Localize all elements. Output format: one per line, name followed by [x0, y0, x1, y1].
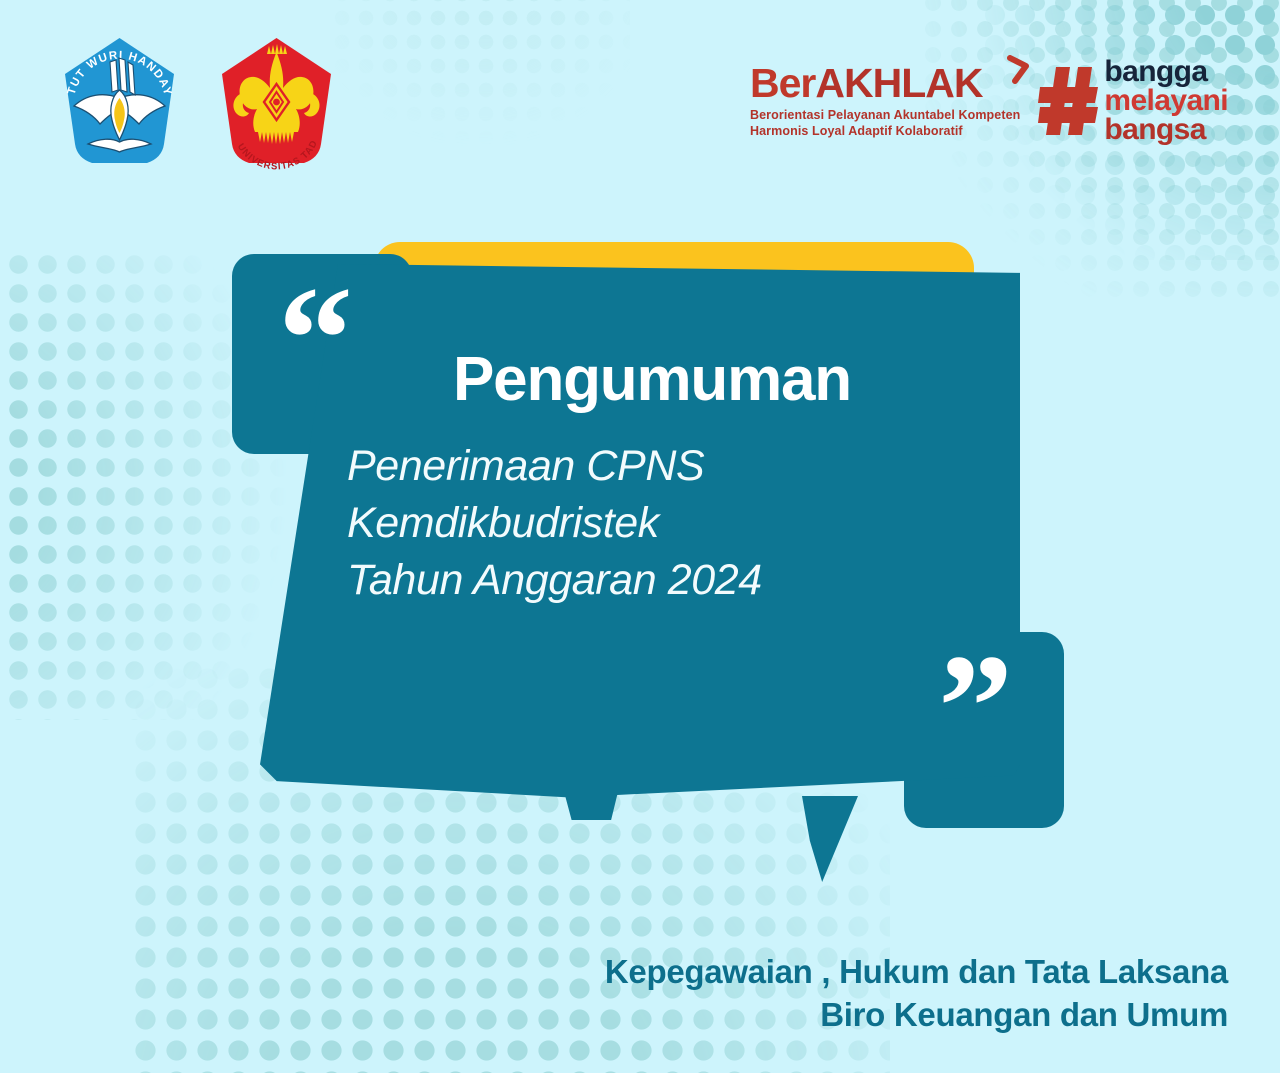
universitas-tadulako-logo: UNIVERSITAS TADULAKO	[209, 32, 344, 177]
berakhlak-wordmark: BerAKHLAK	[750, 63, 1020, 104]
chevron-arrow-icon	[1006, 55, 1032, 85]
berakhlak-tagline: Berorientasi Pelayanan Akuntabel Kompete…	[750, 108, 1020, 139]
halftone-pattern-top-left	[330, 0, 630, 150]
announcement-subtitle-line1: Penerimaan CPNS	[347, 438, 957, 495]
open-quote-mark: “	[278, 264, 353, 414]
berakhlak-suffix: AKHLAK	[815, 60, 982, 106]
announcement-subtitle-line2: Kemdikbudristek	[347, 495, 957, 552]
header-logo-row: TUT WURI HANDAYANI	[52, 32, 344, 177]
announcement-subtitle-line3: Tahun Anggaran 2024	[347, 552, 957, 609]
close-quote-mark: ”	[938, 632, 1013, 782]
berakhlak-logo: BerAKHLAK Berorientasi Pelayanan Akuntab…	[750, 63, 1026, 139]
berakhlak-tagline-line1: Berorientasi Pelayanan Akuntabel Kompete…	[750, 108, 1020, 123]
bangga-melayani-bangsa-logo: bangga melayani bangsa	[1038, 58, 1228, 144]
footer-line1: Kepegawaian , Hukum dan Tata Laksana	[605, 951, 1228, 994]
bangga-melayani-bangsa-text: bangga melayani bangsa	[1104, 58, 1228, 144]
berakhlak-prefix: Ber	[750, 60, 815, 106]
footer-line2: Biro Keuangan dan Umum	[605, 994, 1228, 1037]
bubble-tail	[802, 796, 858, 882]
header-right-logos: BerAKHLAK Berorientasi Pelayanan Akuntab…	[750, 58, 1228, 144]
announcement-heading: Pengumuman	[347, 348, 957, 412]
footer-department: Kepegawaian , Hukum dan Tata Laksana Bir…	[605, 951, 1228, 1037]
bubble-text-block: Pengumuman Penerimaan CPNS Kemdikbudrist…	[347, 348, 957, 609]
bmb-line-bangga: bangga	[1104, 58, 1228, 87]
hashtag-icon	[1038, 63, 1100, 139]
bmb-line-bangsa: bangsa	[1104, 116, 1228, 145]
berakhlak-tagline-line2: Harmonis Loyal Adaptif Kolaboratif	[750, 124, 1020, 139]
announcement-speech-bubble: “ ” Pengumuman Penerimaan CPNS Kemdikbud…	[232, 236, 1052, 856]
tut-wuri-handayani-logo: TUT WURI HANDAYANI	[52, 32, 187, 177]
bmb-line-melayani: melayani	[1104, 87, 1228, 116]
poster-canvas: TUT WURI HANDAYANI	[0, 0, 1280, 1073]
